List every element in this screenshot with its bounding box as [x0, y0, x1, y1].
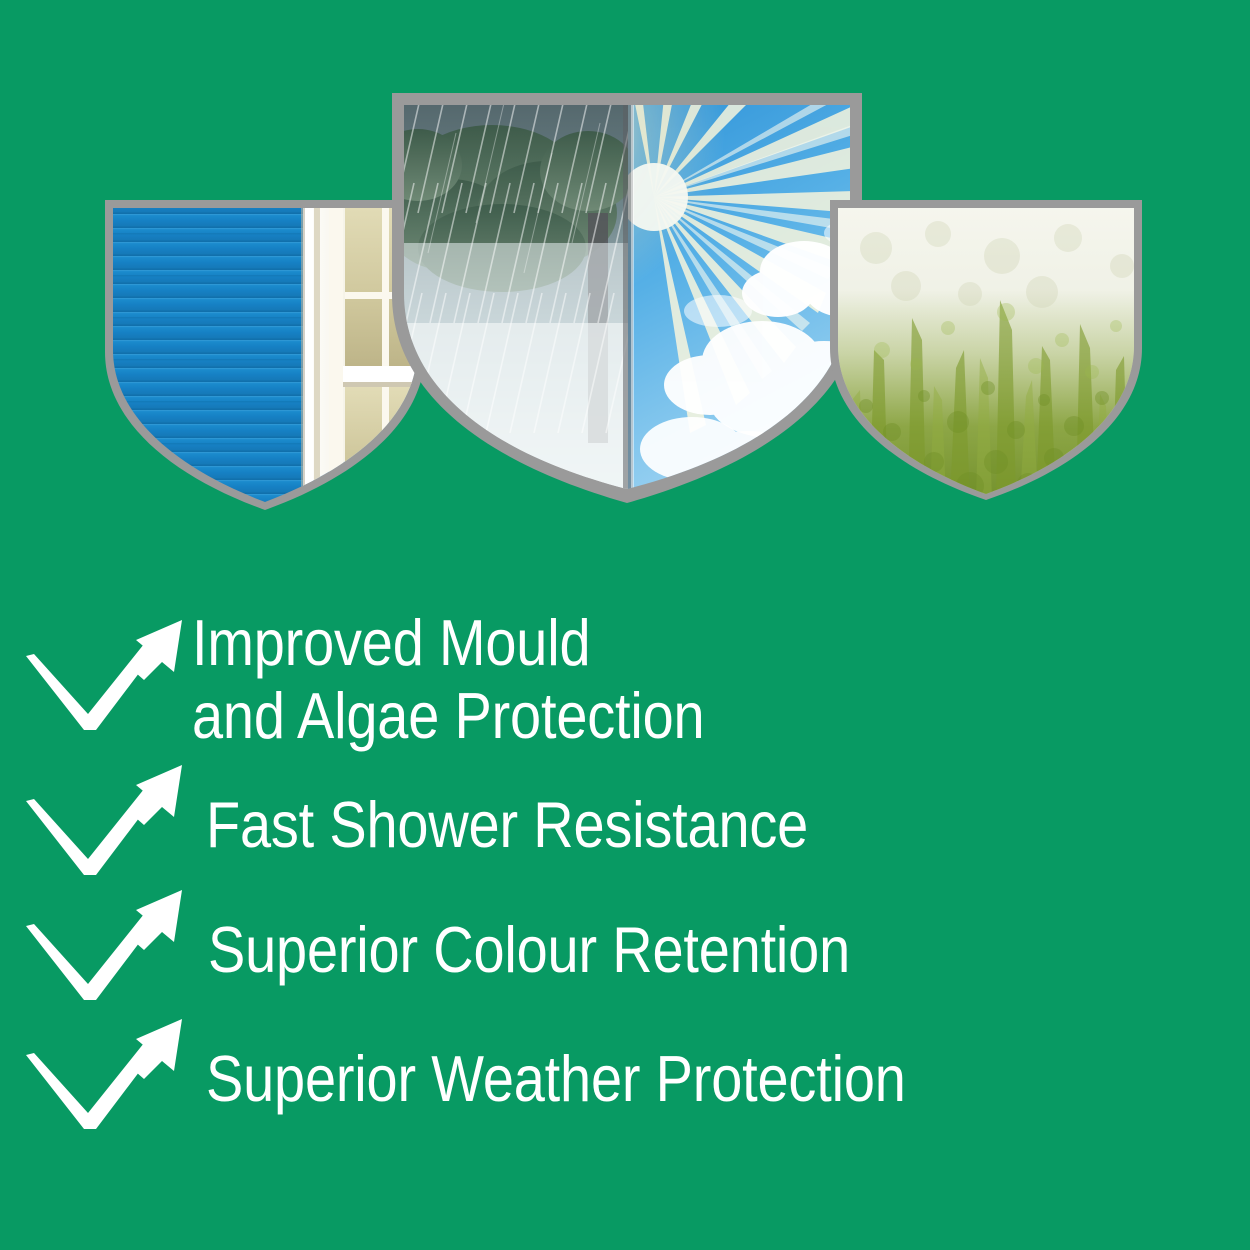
list-item-label: Superior Colour Retention [208, 914, 850, 987]
shield-icon [830, 200, 1142, 500]
list-item: Fast Shower Resistance [0, 764, 1250, 886]
shield-icon [392, 93, 862, 503]
shield-image-rain-sun [370, 0, 884, 503]
list-item: Superior Colour Retention [0, 886, 1250, 1014]
rain-half [370, 73, 642, 503]
list-item: Superior Weather Protection [0, 1014, 1250, 1144]
shield-banner [0, 0, 1250, 560]
product-benefits-poster: Improved Mould and Algae Protection Fast… [0, 0, 1250, 1250]
shield-rain-and-sun [392, 93, 862, 503]
tick-arrow-icon [0, 886, 200, 1014]
shield-green-algae-wall [830, 200, 1142, 500]
list-item-label: Superior Weather Protection [206, 1043, 906, 1116]
shield-image-algae [830, 200, 1142, 500]
tick-arrow-icon [0, 764, 200, 886]
list-item-label: Improved Mould and Algae Protection [192, 607, 704, 753]
tick-arrow-icon [0, 1014, 200, 1144]
shield-blue-brick-wall [105, 200, 425, 510]
list-item: Improved Mould and Algae Protection [0, 596, 1250, 764]
feature-list: Improved Mould and Algae Protection Fast… [0, 596, 1250, 1144]
list-item-label: Fast Shower Resistance [206, 789, 808, 862]
tick-arrow-icon [0, 596, 200, 764]
shield-icon [105, 200, 425, 510]
shield-image-blue-brick [105, 200, 425, 510]
